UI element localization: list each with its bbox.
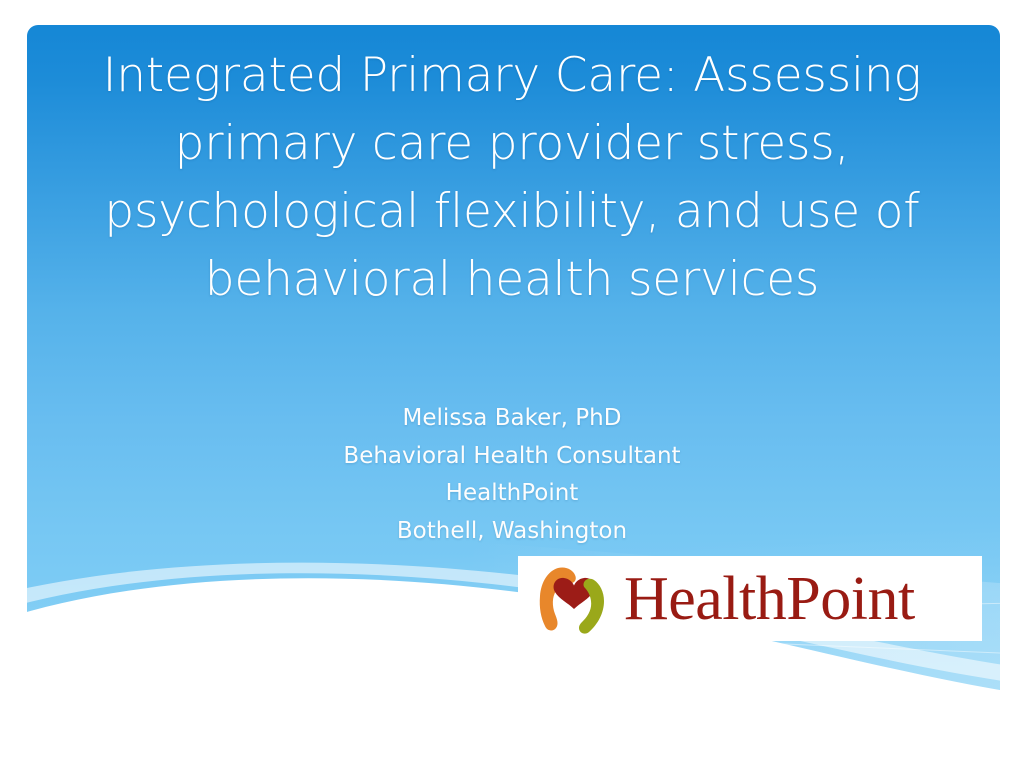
slide-subtitle: Melissa Baker, PhD Behavioral Health Con… — [162, 400, 862, 550]
healthpoint-logo-mark-icon — [528, 560, 620, 638]
healthpoint-wordmark: HealthPoint — [624, 568, 915, 630]
presentation-slide: Integrated Primary Care: Assessing prima… — [0, 0, 1024, 768]
title-line-1: Integrated Primary Care: Assessing — [62, 42, 962, 110]
slide-title: Integrated Primary Care: Assessing prima… — [62, 42, 962, 314]
title-line-4: behavioral health services — [62, 246, 962, 314]
author-organization: HealthPoint — [162, 475, 862, 513]
author-name: Melissa Baker, PhD — [162, 400, 862, 438]
title-line-3: psychological flexibility, and use of — [62, 178, 962, 246]
title-line-2: primary care provider stress, — [62, 110, 962, 178]
healthpoint-logo: HealthPoint — [518, 556, 982, 641]
author-role: Behavioral Health Consultant — [162, 438, 862, 476]
author-location: Bothell, Washington — [162, 513, 862, 551]
